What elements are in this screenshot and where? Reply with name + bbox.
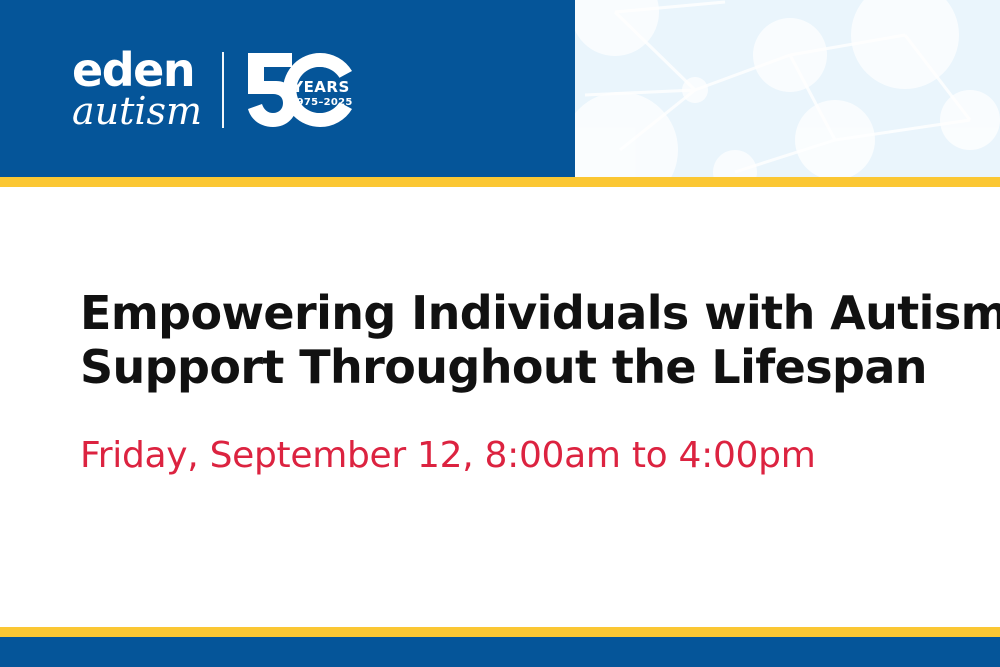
event-title-line-2: Support Throughout the Lifespan — [80, 340, 940, 394]
flyer-header: eden autism YEARS 1975–2025 — [0, 0, 1000, 177]
eden-autism-wordmark: eden autism — [72, 49, 202, 131]
anniversary-year-range: 1975–2025 — [289, 97, 352, 108]
event-title: Empowering Individuals with Autism: Supp… — [80, 286, 940, 395]
anniversary-years-label: YEARS — [291, 78, 350, 96]
header-accent-rule — [0, 177, 1000, 187]
fifty-years-anniversary-badge: YEARS 1975–2025 — [242, 51, 360, 129]
event-flyer: eden autism YEARS 1975–2025 — [0, 0, 1000, 667]
header-brand-panel: eden autism YEARS 1975–2025 — [0, 0, 575, 177]
footer-accent-rule — [0, 627, 1000, 637]
network-watermark-graphic — [575, 0, 1000, 177]
eden-autism-logo: eden autism YEARS 1975–2025 — [72, 44, 360, 136]
event-date-time: Friday, September 12, 8:00am to 4:00pm — [80, 395, 940, 477]
header-series-panel: Princeton Lecture Series — [575, 0, 1000, 177]
flyer-body: Empowering Individuals with Autism: Supp… — [80, 286, 940, 477]
anniversary-badge-icon: YEARS 1975–2025 — [242, 51, 360, 129]
brand-name-primary: eden — [72, 49, 202, 91]
logo-divider — [222, 52, 224, 128]
brand-name-secondary: autism — [72, 92, 202, 131]
event-title-line-1: Empowering Individuals with Autism: — [80, 286, 940, 340]
footer-bar — [0, 637, 1000, 667]
